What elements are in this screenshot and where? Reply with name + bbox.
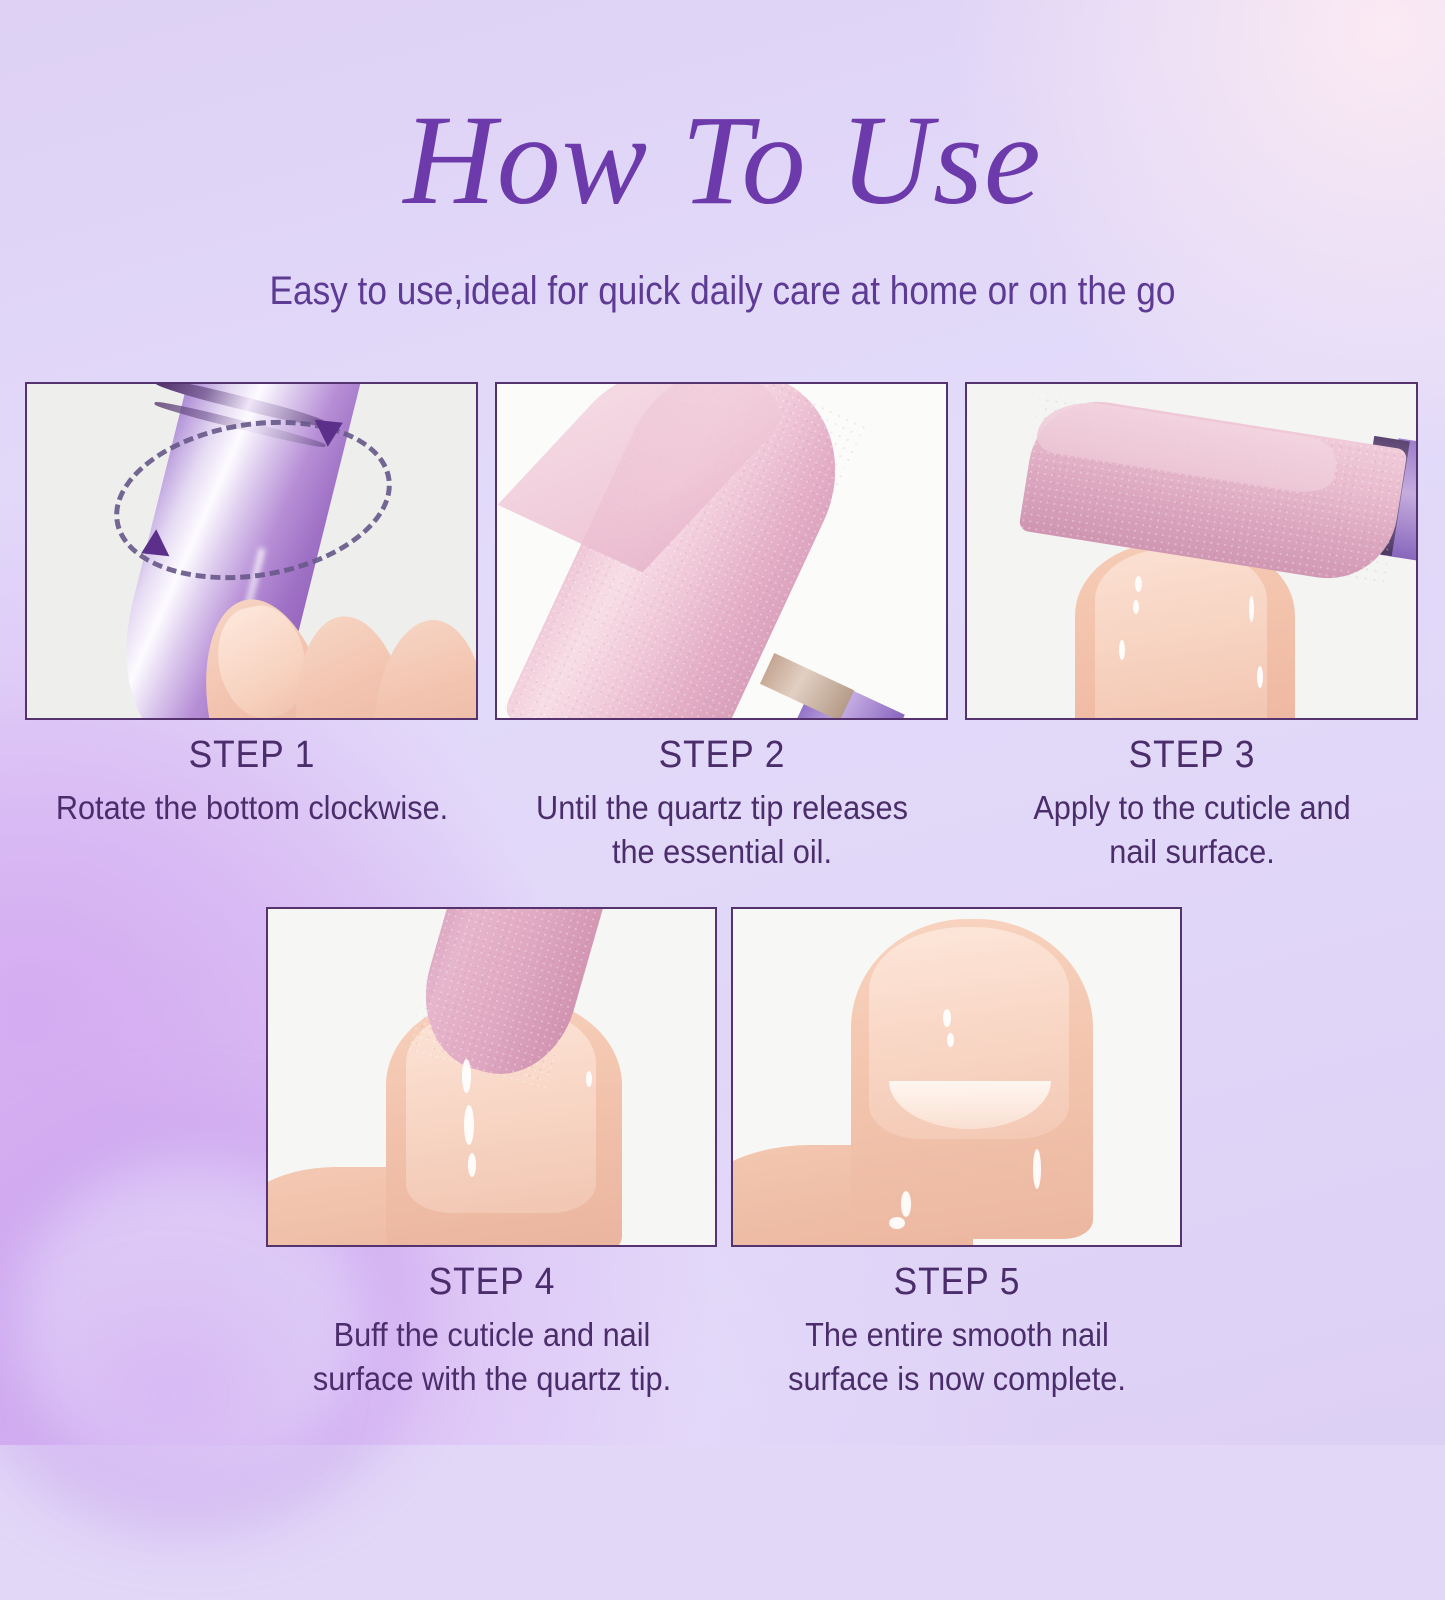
step-2-description: Until the quartz tip releases the essent… (536, 786, 908, 873)
step-1-photo-inner (27, 384, 476, 718)
fingernail (1095, 548, 1267, 718)
step-2-description-line-2: the essential oil. (536, 830, 908, 874)
step-5-description: The entire smooth nail surface is now co… (788, 1313, 1126, 1400)
step-2-photo-inner (497, 384, 946, 718)
finger-middle (372, 618, 476, 718)
step-2-description-line-1: Until the quartz tip releases (536, 786, 908, 830)
step-3-label: STEP 3 (1033, 734, 1350, 777)
step-5-label: STEP 5 (788, 1261, 1126, 1304)
step-5-caption: STEP 5 The entire smooth nail surface is… (775, 1261, 1138, 1400)
step-3-description-line-2: nail surface. (1033, 830, 1350, 874)
step-4-description-line-2: surface with the quartz tip. (312, 1357, 670, 1401)
step-4-photo-inner (268, 909, 715, 1245)
header: How To Use Easy to use,ideal for quick d… (0, 96, 1445, 314)
step-3-photo (965, 382, 1418, 720)
oil-droplet-4 (586, 1071, 592, 1087)
step-1-caption: STEP 1 Rotate the bottom clockwise. (41, 734, 463, 830)
page-title: How To Use (0, 96, 1445, 224)
step-5-description-line-1: The entire smooth nail (788, 1313, 1126, 1357)
how-to-use-infographic: How To Use Easy to use,ideal for quick d… (0, 0, 1445, 1445)
step-1-photo (25, 382, 478, 720)
step-4-description-line-1: Buff the cuticle and nail (312, 1313, 670, 1357)
oil-droplet-2 (464, 1105, 474, 1145)
page-subtitle: Easy to use,ideal for quick daily care a… (87, 268, 1359, 314)
oil-droplet-1 (462, 1059, 471, 1093)
oil-droplet-3 (1119, 640, 1125, 660)
step-3-description: Apply to the cuticle and nail surface. (1033, 786, 1350, 873)
step-2-photo (495, 382, 948, 720)
step-4-caption: STEP 4 Buff the cuticle and nail surface… (299, 1261, 684, 1400)
oil-droplet-3 (468, 1153, 476, 1177)
step-4-description: Buff the cuticle and nail surface with t… (312, 1313, 670, 1400)
nail-shine-1 (943, 1009, 951, 1027)
step-2-label: STEP 2 (536, 734, 908, 777)
oil-droplet-5 (1257, 666, 1263, 688)
oil-droplet-1 (1135, 576, 1142, 592)
nail-shine-2 (947, 1033, 954, 1047)
step-5-photo-inner (733, 909, 1180, 1245)
step-4-photo (266, 907, 717, 1247)
oil-droplet-2 (1133, 600, 1139, 614)
step-5-description-line-2: surface is now complete. (788, 1357, 1126, 1401)
cuticle-shine-3 (889, 1217, 905, 1229)
oil-droplet-4 (1249, 596, 1254, 622)
cuticle-shine-1 (1033, 1149, 1041, 1189)
step-5-photo (731, 907, 1182, 1247)
step-2-caption: STEP 2 Until the quartz tip releases the… (522, 734, 922, 873)
step-1-description: Rotate the bottom clockwise. (55, 786, 447, 830)
step-3-description-line-1: Apply to the cuticle and (1033, 786, 1350, 830)
step-3-caption: STEP 3 Apply to the cuticle and nail sur… (1021, 734, 1362, 873)
step-4-label: STEP 4 (312, 1261, 670, 1304)
step-1-label: STEP 1 (55, 734, 447, 777)
step-3-photo-inner (967, 384, 1416, 718)
cuticle-shine-2 (901, 1191, 911, 1217)
